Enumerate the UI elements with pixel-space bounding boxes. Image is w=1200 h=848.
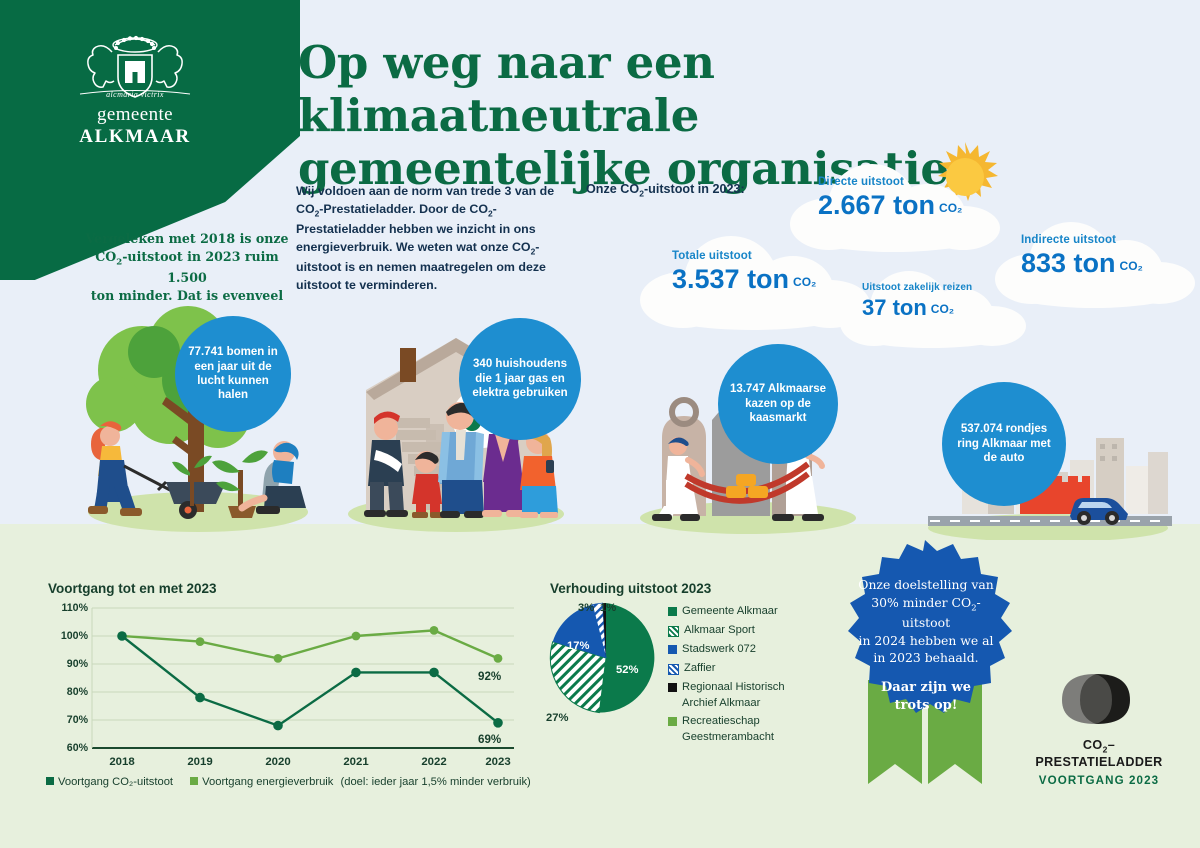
pie-legend-item-stadswerk-072: Stadswerk 072 <box>668 642 793 658</box>
cloud-value: 2.667 tonCO₂ <box>818 191 962 219</box>
prestatieladder-name: CO2–PRESTATIELADDER <box>1024 738 1174 769</box>
cloud-zakelijk-reizen: Uitstoot zakelijk reizen 37 tonCO₂ <box>840 268 1026 350</box>
pie-slice-gemeente-alkmaar <box>599 603 654 713</box>
cloud-value: 833 tonCO₂ <box>1021 249 1143 277</box>
legend-label-co2: Voortgang CO₂-uitstoot <box>58 776 173 788</box>
fact-text: 537.074 rondjes ring Alkmaar met de auto <box>950 422 1058 465</box>
pie-legend-label: Zaffier <box>684 661 716 677</box>
achievement-badge: Onze doelstelling van 30% minder CO2-uit… <box>820 538 1030 818</box>
badge-text: Onze doelstelling van 30% minder CO2-uit… <box>848 576 1004 716</box>
y-tick-90: 90% <box>44 658 88 670</box>
prestatieladder-year: VOORTGANG 2023 <box>1024 774 1174 787</box>
logo-wordmark: gemeente ALKMAAR <box>40 104 230 148</box>
pie-legend-swatch <box>668 717 677 726</box>
line-chart <box>46 600 516 770</box>
x-tick-2021: 2021 <box>326 756 386 768</box>
cloud-unit: CO₂ <box>939 201 962 215</box>
pie-legend-item-regionaal-historisch-archief: Regionaal Historisch Archief Alkmaar <box>668 680 793 712</box>
data-label-energie-2023: 92% <box>478 670 501 683</box>
fact-text: 77.741 bomen in een jaar uit de lucht ku… <box>183 345 283 403</box>
x-tick-2018: 2018 <box>92 756 152 768</box>
y-tick-100: 100% <box>44 630 88 642</box>
badge-highlight2: trots op! <box>895 698 958 713</box>
pie-label-17: 17% <box>567 640 589 652</box>
cloud-label: Directe uitstoot <box>818 176 962 188</box>
fact-circle-rondjes: 537.074 rondjes ring Alkmaar met de auto <box>942 382 1066 506</box>
legend-item-co2: Voortgang CO₂-uitstoot <box>46 776 173 788</box>
pie-legend-label: Gemeente Alkmaar <box>682 604 778 620</box>
x-tick-2023: 2023 <box>468 756 528 768</box>
pie-legend-item-recreatieschap-geestmerambacht: Recreatieschap Geestmerambacht <box>668 714 793 746</box>
badge-line1: Onze doelstelling van <box>858 577 993 592</box>
cloud-label: Totale uitstoot <box>672 250 816 262</box>
pie-legend-item-alkmaar-sport: Alkmaar Sport <box>668 623 793 639</box>
pie-legend-label: Alkmaar Sport <box>684 623 755 639</box>
pie-legend-label: Regionaal Historisch Archief Alkmaar <box>682 680 793 712</box>
fact-text: 340 huishoudens die 1 jaar gas en elektr… <box>467 357 573 400</box>
cloud-label: Uitstoot zakelijk reizen <box>862 282 972 293</box>
alkmaar-logo: alcmaria victrix gemeente ALKMAAR <box>40 28 230 138</box>
x-tick-2022: 2022 <box>404 756 464 768</box>
badge-line4: in 2023 behaald. <box>873 650 978 665</box>
page-title-line1: Op weg naar een klimaatneutrale <box>298 36 1098 142</box>
pie-legend-swatch <box>668 626 679 637</box>
legend-note: (doel: ieder jaar 1,5% minder verbruik) <box>341 776 531 788</box>
pie-label-3: 3% <box>578 602 594 614</box>
y-tick-80: 80% <box>44 686 88 698</box>
x-tick-2019: 2019 <box>170 756 230 768</box>
pie-legend-swatch <box>668 607 677 616</box>
cloud-unit: CO₂ <box>793 275 816 289</box>
x-tick-2020: 2020 <box>248 756 308 768</box>
pie-legend-item-gemeente-alkmaar: Gemeente Alkmaar <box>668 604 793 620</box>
fact-circle-bomen: 77.741 bomen in een jaar uit de lucht ku… <box>175 316 291 432</box>
pie-label-52: 52% <box>616 664 638 676</box>
logo-latin-motto: alcmaria victrix <box>40 90 230 99</box>
cloud-unit: CO₂ <box>1120 259 1143 273</box>
cloud-directe-uitstoot: Directe uitstoot 2.667 tonCO₂ <box>790 158 1000 254</box>
pie-chart-legend: Gemeente Alkmaar Alkmaar Sport Stadswerk… <box>668 604 793 749</box>
cloud-label: Indirecte uitstoot <box>1021 234 1143 246</box>
infographic-page: alcmaria victrix gemeente ALKMAAR Op weg… <box>0 0 1200 848</box>
badge-highlight1: Daar zijn we <box>881 680 971 695</box>
data-label-co2-2023: 69% <box>478 733 501 746</box>
fact-text: 13.747 Alkmaarse kazen op de kaasmarkt <box>726 382 830 425</box>
y-tick-60: 60% <box>44 742 88 754</box>
cloud-value: 37 tonCO₂ <box>862 296 972 319</box>
person-planting <box>242 441 306 514</box>
legend-label-energie: Voortgang energieverbruik <box>202 776 333 788</box>
cloud-unit: CO₂ <box>931 302 954 316</box>
logo-word-alkmaar: ALKMAAR <box>79 126 190 147</box>
line-chart-legend: Voortgang CO₂-uitstoot Voortgang energie… <box>46 776 545 788</box>
pie-legend-swatch <box>668 645 677 654</box>
legend-item-energie: Voortgang energieverbruik (doel: ieder j… <box>190 776 531 788</box>
pie-legend-label: Recreatieschap Geestmerambacht <box>682 714 793 746</box>
logo-word-gemeente: gemeente <box>97 104 173 125</box>
pie-label-1: 1% <box>600 602 616 614</box>
pie-legend-label: Stadswerk 072 <box>682 642 756 658</box>
pie-chart <box>548 600 664 716</box>
line-chart-title: Voortgang tot en met 2023 <box>48 581 217 596</box>
fact-circle-kazen: 13.747 Alkmaarse kazen op de kaasmarkt <box>718 344 838 464</box>
pie-legend-swatch <box>668 664 679 675</box>
legend-swatch-energie <box>190 777 198 785</box>
fact-circle-huishoudens: 340 huishoudens die 1 jaar gas en elektr… <box>459 318 581 440</box>
pie-label-27: 27% <box>546 712 568 724</box>
prestatieladder-logo: CO2–PRESTATIELADDER VOORTGANG 2023 <box>1024 668 1174 787</box>
cloud-value: 3.537 tonCO₂ <box>672 265 816 293</box>
badge-highlight: Daar zijn we trots op! <box>848 679 1004 716</box>
prestatieladder-mark-icon <box>1056 668 1142 732</box>
pie-legend-item-zaffier: Zaffier <box>668 661 793 677</box>
y-tick-110: 110% <box>44 602 88 614</box>
intro-paragraph: Wij voldoen aan de norm van trede 3 van … <box>296 182 574 294</box>
badge-line3: in 2024 hebben we al <box>858 633 993 648</box>
pie-legend-swatch <box>668 683 677 692</box>
pie-chart-title: Verhouding uitstoot 2023 <box>550 581 711 596</box>
legend-swatch-co2 <box>46 777 54 785</box>
y-tick-70: 70% <box>44 714 88 726</box>
